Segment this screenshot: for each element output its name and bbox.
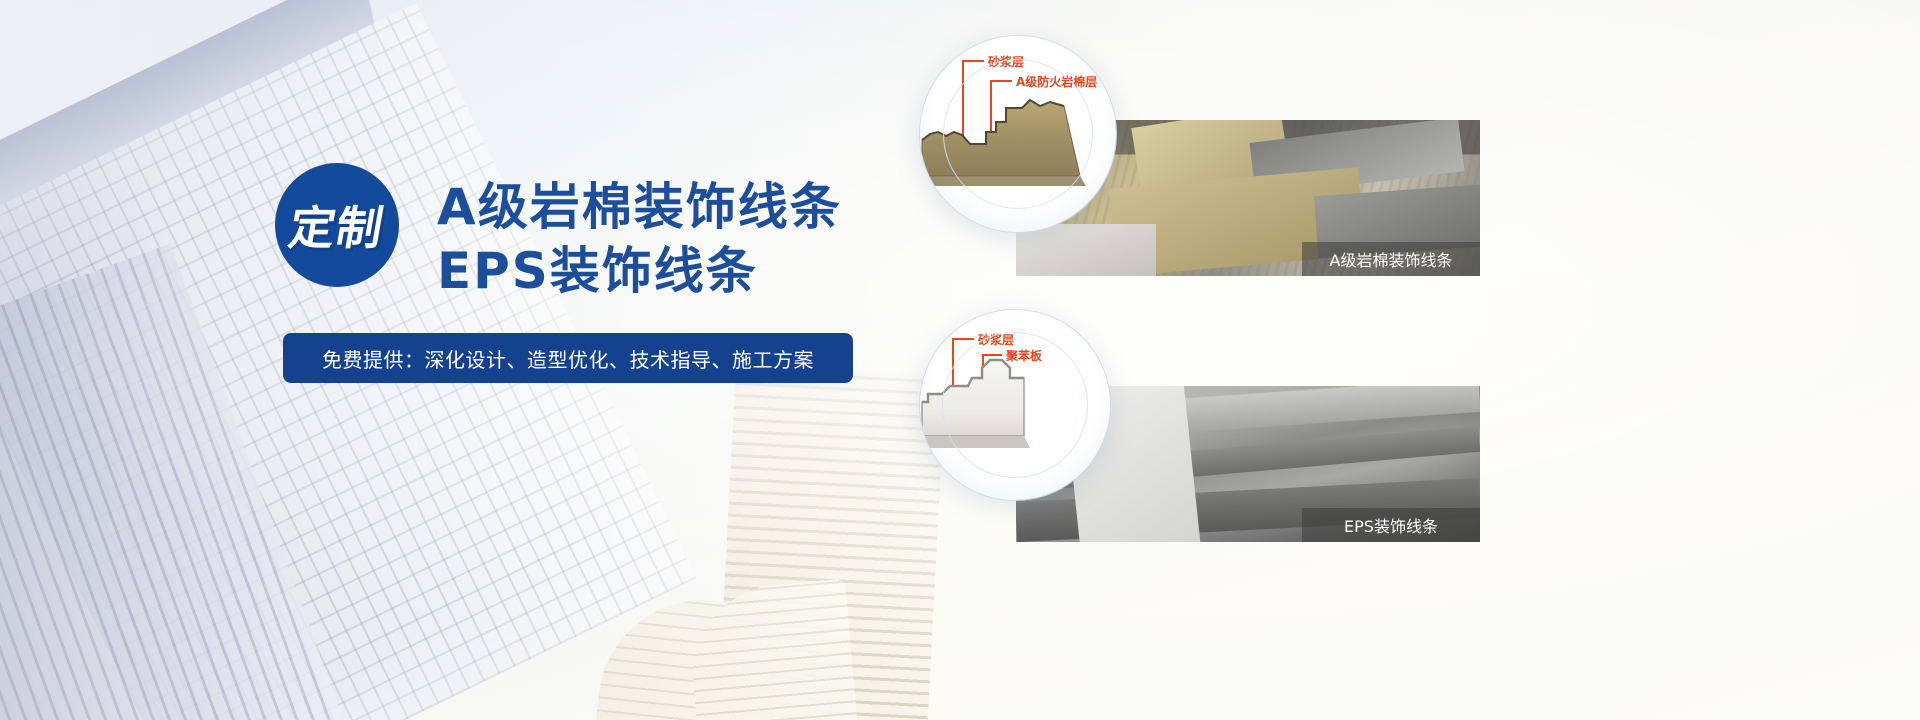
promo-banner: 定制 A级岩棉装饰线条 EPS装饰线条 免费提供：深化设计、造型优化、技术指导、…	[0, 0, 1920, 720]
leader-line	[990, 80, 992, 156]
leader-dot	[960, 136, 965, 141]
diagram-label-eps: 聚苯板	[1006, 347, 1042, 364]
rockwool-profile-svg	[920, 36, 1116, 232]
product-card-eps: EPS装饰线条 砂浆层 聚苯板	[1016, 310, 1480, 542]
headline-line-1: A级岩棉装饰线条	[437, 175, 842, 239]
custom-badge: 定制	[275, 163, 399, 287]
eps-profile-svg	[920, 310, 1110, 500]
services-banner: 免费提供：深化设计、造型优化、技术指导、施工方案	[283, 333, 853, 383]
custom-badge-label: 定制	[284, 192, 390, 258]
product-card-rockwool: A级岩棉装饰线条 砂浆层 A级防火岩棉层	[1016, 36, 1480, 276]
leader-dot	[988, 154, 993, 159]
services-banner-text: 免费提供：深化设计、造型优化、技术指导、施工方案	[322, 344, 814, 373]
product-caption-rockwool: A级岩棉装饰线条	[1302, 242, 1480, 276]
leader-line	[990, 80, 1012, 82]
cutaway-diagram-rockwool: 砂浆层 A级防火岩棉层	[920, 36, 1116, 232]
headline-block: A级岩棉装饰线条 EPS装饰线条	[437, 175, 842, 303]
leader-line	[982, 354, 984, 432]
leader-line	[982, 354, 1002, 356]
cutaway-diagram-eps: 砂浆层 聚苯板	[920, 310, 1110, 500]
headline-line-2: EPS装饰线条	[437, 239, 842, 303]
leader-dot	[980, 430, 985, 435]
leader-dot	[950, 398, 955, 403]
product-caption-eps: EPS装饰线条	[1302, 508, 1480, 542]
